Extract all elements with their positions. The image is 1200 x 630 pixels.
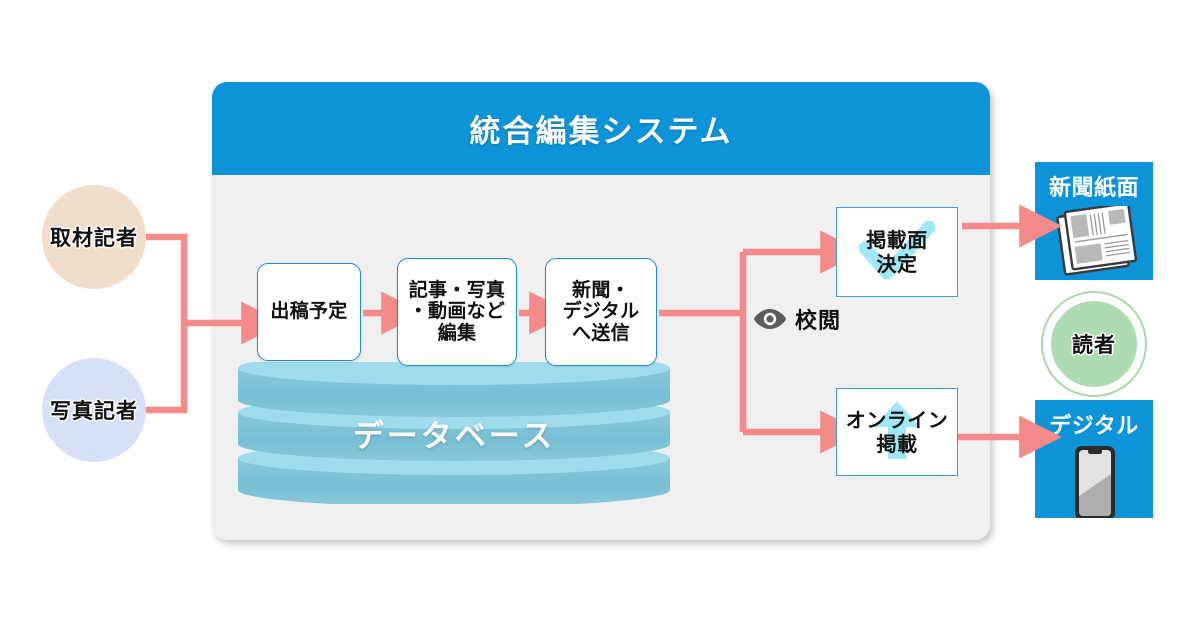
process-box-soshin[interactable]: 新聞・ デジタル へ送信: [545, 258, 657, 366]
decision-box-online-keisai-label: オンライン 掲載: [846, 408, 949, 457]
process-box-shukou-yotei[interactable]: 出稿予定: [257, 263, 361, 361]
input-node-photographer-label: 写真記者: [50, 395, 138, 425]
process-box-shukou-yotei-label: 出稿予定: [270, 301, 347, 323]
decision-box-online-keisai[interactable]: オンライン 掲載: [836, 388, 958, 476]
input-node-photographer[interactable]: 写真記者: [42, 358, 146, 462]
input-node-reporter[interactable]: 取材記者: [42, 185, 146, 289]
process-box-henshu-line3: 編集: [438, 322, 477, 344]
checkpoint-kouetsu: 校閲: [752, 303, 841, 335]
process-box-soshin-label: 新聞・ デジタル へ送信: [563, 280, 640, 345]
decision-box-keisaimen-kettei-label: 掲載面 決定: [866, 228, 928, 277]
process-box-soshin-line1: 新聞・: [572, 279, 630, 301]
newspaper-icon: [1055, 206, 1137, 276]
process-box-soshin-line3: へ送信: [572, 322, 630, 344]
output-tile-digital-label: デジタル: [1035, 408, 1153, 440]
input-node-reporter-label: 取材記者: [50, 222, 138, 252]
process-box-henshu-line2: ・動画など: [409, 300, 506, 322]
process-box-soshin-line2: デジタル: [563, 300, 640, 322]
connector-reporters-bracket: [146, 237, 184, 410]
decision-box-keisaimen-kettei[interactable]: 掲載面 決定: [836, 207, 958, 297]
output-tile-newspaper[interactable]: 新聞紙面: [1035, 162, 1153, 280]
database-cylinder: データベース: [238, 362, 670, 504]
process-box-henshu-line1: 記事・写真: [409, 279, 506, 301]
decision-box-online-line2: 掲載: [877, 432, 918, 456]
process-box-henshu-label: 記事・写真 ・動画など 編集: [409, 280, 506, 345]
decision-box-online-line1: オンライン: [846, 408, 949, 432]
output-tile-newspaper-label: 新聞紙面: [1035, 170, 1153, 202]
decision-box-keisaimen-line2: 決定: [877, 252, 918, 276]
reader-circle-icon: 読者: [1051, 301, 1137, 387]
output-node-reader[interactable]: 読者: [1041, 291, 1147, 397]
panel-header: 統合編集システム: [212, 82, 990, 175]
smartphone-icon: [1073, 444, 1117, 518]
database-label: データベース: [238, 411, 670, 456]
output-tile-digital[interactable]: デジタル: [1035, 400, 1153, 518]
diagram-canvas: 統合編集システム データベース 取材記者: [0, 0, 1200, 630]
output-node-reader-label: 読者: [1072, 329, 1116, 359]
page-title: 統合編集システム: [469, 106, 732, 151]
eye-icon: [752, 307, 788, 331]
decision-box-keisaimen-line1: 掲載面: [866, 228, 928, 252]
checkpoint-kouetsu-label: 校閲: [795, 303, 841, 335]
process-box-henshu[interactable]: 記事・写真 ・動画など 編集: [397, 258, 517, 366]
